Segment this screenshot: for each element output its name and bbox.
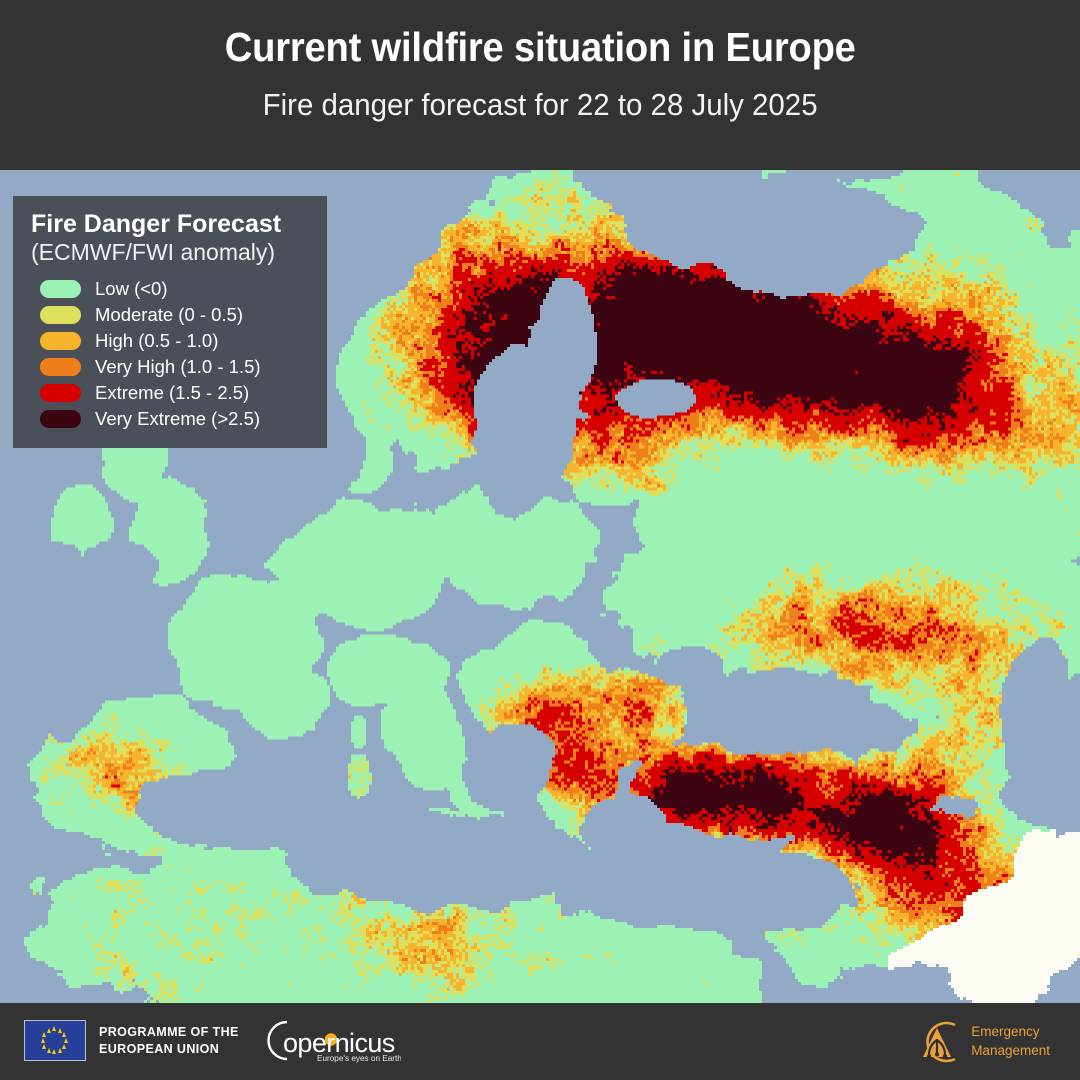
legend-label-low: Low (<0): [95, 280, 168, 299]
eu-star-icon: [47, 1028, 51, 1033]
wildfire-situation-poster: Current wildfire situation in Europe Fir…: [0, 0, 1080, 1080]
footer-right-group: Emergency Management: [911, 1019, 1050, 1065]
eu-star-icon: [64, 1038, 68, 1043]
emergency-line1: Emergency: [971, 1023, 1050, 1042]
legend-label-moderate: Moderate (0 - 0.5): [95, 306, 243, 325]
eu-star-icon: [52, 1026, 56, 1031]
legend-label-very-extreme: Very Extreme (>2.5): [95, 410, 260, 429]
legend-label-very-high: Very High (1.0 - 1.5): [95, 358, 261, 377]
eu-star-icon: [42, 1044, 46, 1049]
eu-programme-label: PROGRAMME OF THE EUROPEAN UNION: [99, 1024, 239, 1057]
legend-swatch-extreme: [40, 384, 81, 402]
legend-row-extreme: Extreme (1.5 - 2.5): [31, 380, 311, 406]
legend-items: Low (<0)Moderate (0 - 0.5)High (0.5 - 1.…: [31, 276, 311, 432]
header-bar: Current wildfire situation in Europe Fir…: [0, 0, 1080, 170]
fire-danger-map[interactable]: Fire Danger Forecast (ECMWF/FWI anomaly)…: [0, 170, 1080, 1003]
eu-programme-line1: PROGRAMME OF THE: [99, 1024, 239, 1041]
eu-star-icon: [52, 1049, 56, 1054]
eu-star-icon: [58, 1048, 62, 1053]
eu-star-icon: [47, 1048, 51, 1053]
legend-subtitle: (ECMWF/FWI anomaly): [31, 239, 311, 265]
legend-row-very-high: Very High (1.0 - 1.5): [31, 354, 311, 380]
eu-star-icon: [62, 1044, 66, 1049]
legend-swatch-low: [40, 280, 81, 298]
legend-label-extreme: Extreme (1.5 - 2.5): [95, 384, 249, 403]
legend-row-moderate: Moderate (0 - 0.5): [31, 302, 311, 328]
copernicus-logo-icon: opernicus Europe's eyes on Earth: [255, 1017, 401, 1064]
legend-row-very-extreme: Very Extreme (>2.5): [31, 406, 311, 432]
legend-label-high: High (0.5 - 1.0): [95, 332, 218, 351]
footer-bar: PROGRAMME OF THE EUROPEAN UNION opernicu…: [0, 1003, 1080, 1080]
european-union-flag-icon: [24, 1020, 86, 1061]
emergency-management-logo-icon: [911, 1019, 963, 1065]
legend-title: Fire Danger Forecast: [31, 210, 311, 238]
page-subtitle: Fire danger forecast for 22 to 28 July 2…: [263, 89, 818, 122]
emergency-management-label: Emergency Management: [971, 1023, 1050, 1060]
legend-swatch-moderate: [40, 306, 81, 324]
legend-row-high: High (0.5 - 1.0): [31, 328, 311, 354]
legend-swatch-very-high: [40, 358, 81, 376]
eu-star-icon: [62, 1032, 66, 1037]
legend-swatch-high: [40, 332, 81, 350]
legend-swatch-very-extreme: [40, 410, 81, 428]
footer-left-group: PROGRAMME OF THE EUROPEAN UNION opernicu…: [24, 1017, 401, 1064]
eu-star-icon: [41, 1038, 45, 1043]
emergency-line2: Management: [971, 1042, 1050, 1061]
legend-panel: Fire Danger Forecast (ECMWF/FWI anomaly)…: [13, 196, 327, 448]
copernicus-tagline: Europe's eyes on Earth: [317, 1054, 401, 1063]
legend-row-low: Low (<0): [31, 276, 311, 302]
page-title: Current wildfire situation in Europe: [225, 26, 856, 69]
eu-programme-line2: EUROPEAN UNION: [99, 1041, 239, 1058]
copernicus-logo: opernicus Europe's eyes on Earth: [255, 1017, 401, 1064]
